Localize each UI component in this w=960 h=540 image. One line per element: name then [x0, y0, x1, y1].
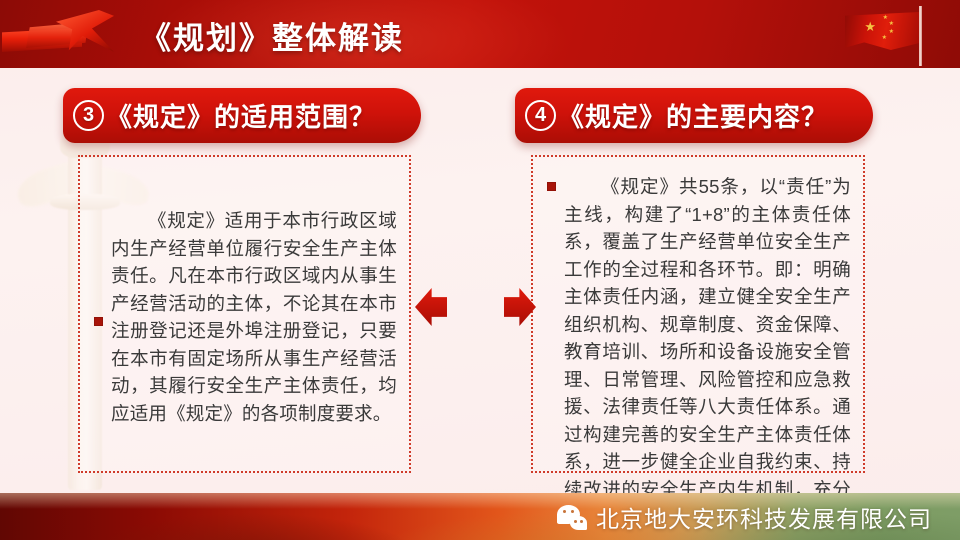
wechat-icon	[557, 504, 587, 530]
slide-root: ★ ★ ★ ★ ★ 《规划》整体解读 3 《规定》的适用范围？ 4 《规定》的主…	[0, 0, 960, 540]
badge-title-4: 《规定》的主要内容？	[558, 97, 828, 134]
content-box-right: 《规定》共55条，以“责任”为主线，构建了“1+8”的主体责任体系，覆盖了生产经…	[531, 155, 865, 473]
company-name: 北京地大安环科技发展有限公司	[596, 500, 932, 534]
square-bullet-icon	[94, 317, 103, 326]
badge-number-3: 3	[73, 100, 104, 131]
panel-title-badge-4: 4 《规定》的主要内容？	[515, 88, 873, 143]
badge-number-4: 4	[525, 100, 556, 131]
square-bullet-icon	[547, 182, 556, 191]
china-national-flag-icon: ★ ★ ★ ★ ★	[830, 2, 938, 68]
footer-bar: 北京地大安环科技发展有限公司	[0, 493, 960, 540]
arrow-left-icon	[415, 288, 447, 326]
content-box-left: 《规定》适用于本市行政区域内生产经营单位履行安全生产主体责任。凡在本市行政区域内…	[78, 155, 411, 473]
badge-title-3: 《规定》的适用范围？	[106, 97, 376, 134]
content-body-right: 《规定》共55条，以“责任”为主线，构建了“1+8”的主体责任体系，覆盖了生产经…	[564, 173, 851, 461]
footer-brand: 北京地大安环科技发展有限公司	[557, 500, 932, 534]
header-bar: ★ ★ ★ ★ ★ 《规划》整体解读	[0, 0, 960, 68]
red-ribbon-banner-icon	[2, 6, 122, 62]
content-body-left: 《规定》适用于本市行政区域内生产经营单位履行安全生产主体责任。凡在本市行政区域内…	[111, 207, 397, 427]
page-title: 《规划》整体解读	[140, 13, 404, 58]
panel-title-badge-3: 3 《规定》的适用范围？	[63, 88, 421, 143]
